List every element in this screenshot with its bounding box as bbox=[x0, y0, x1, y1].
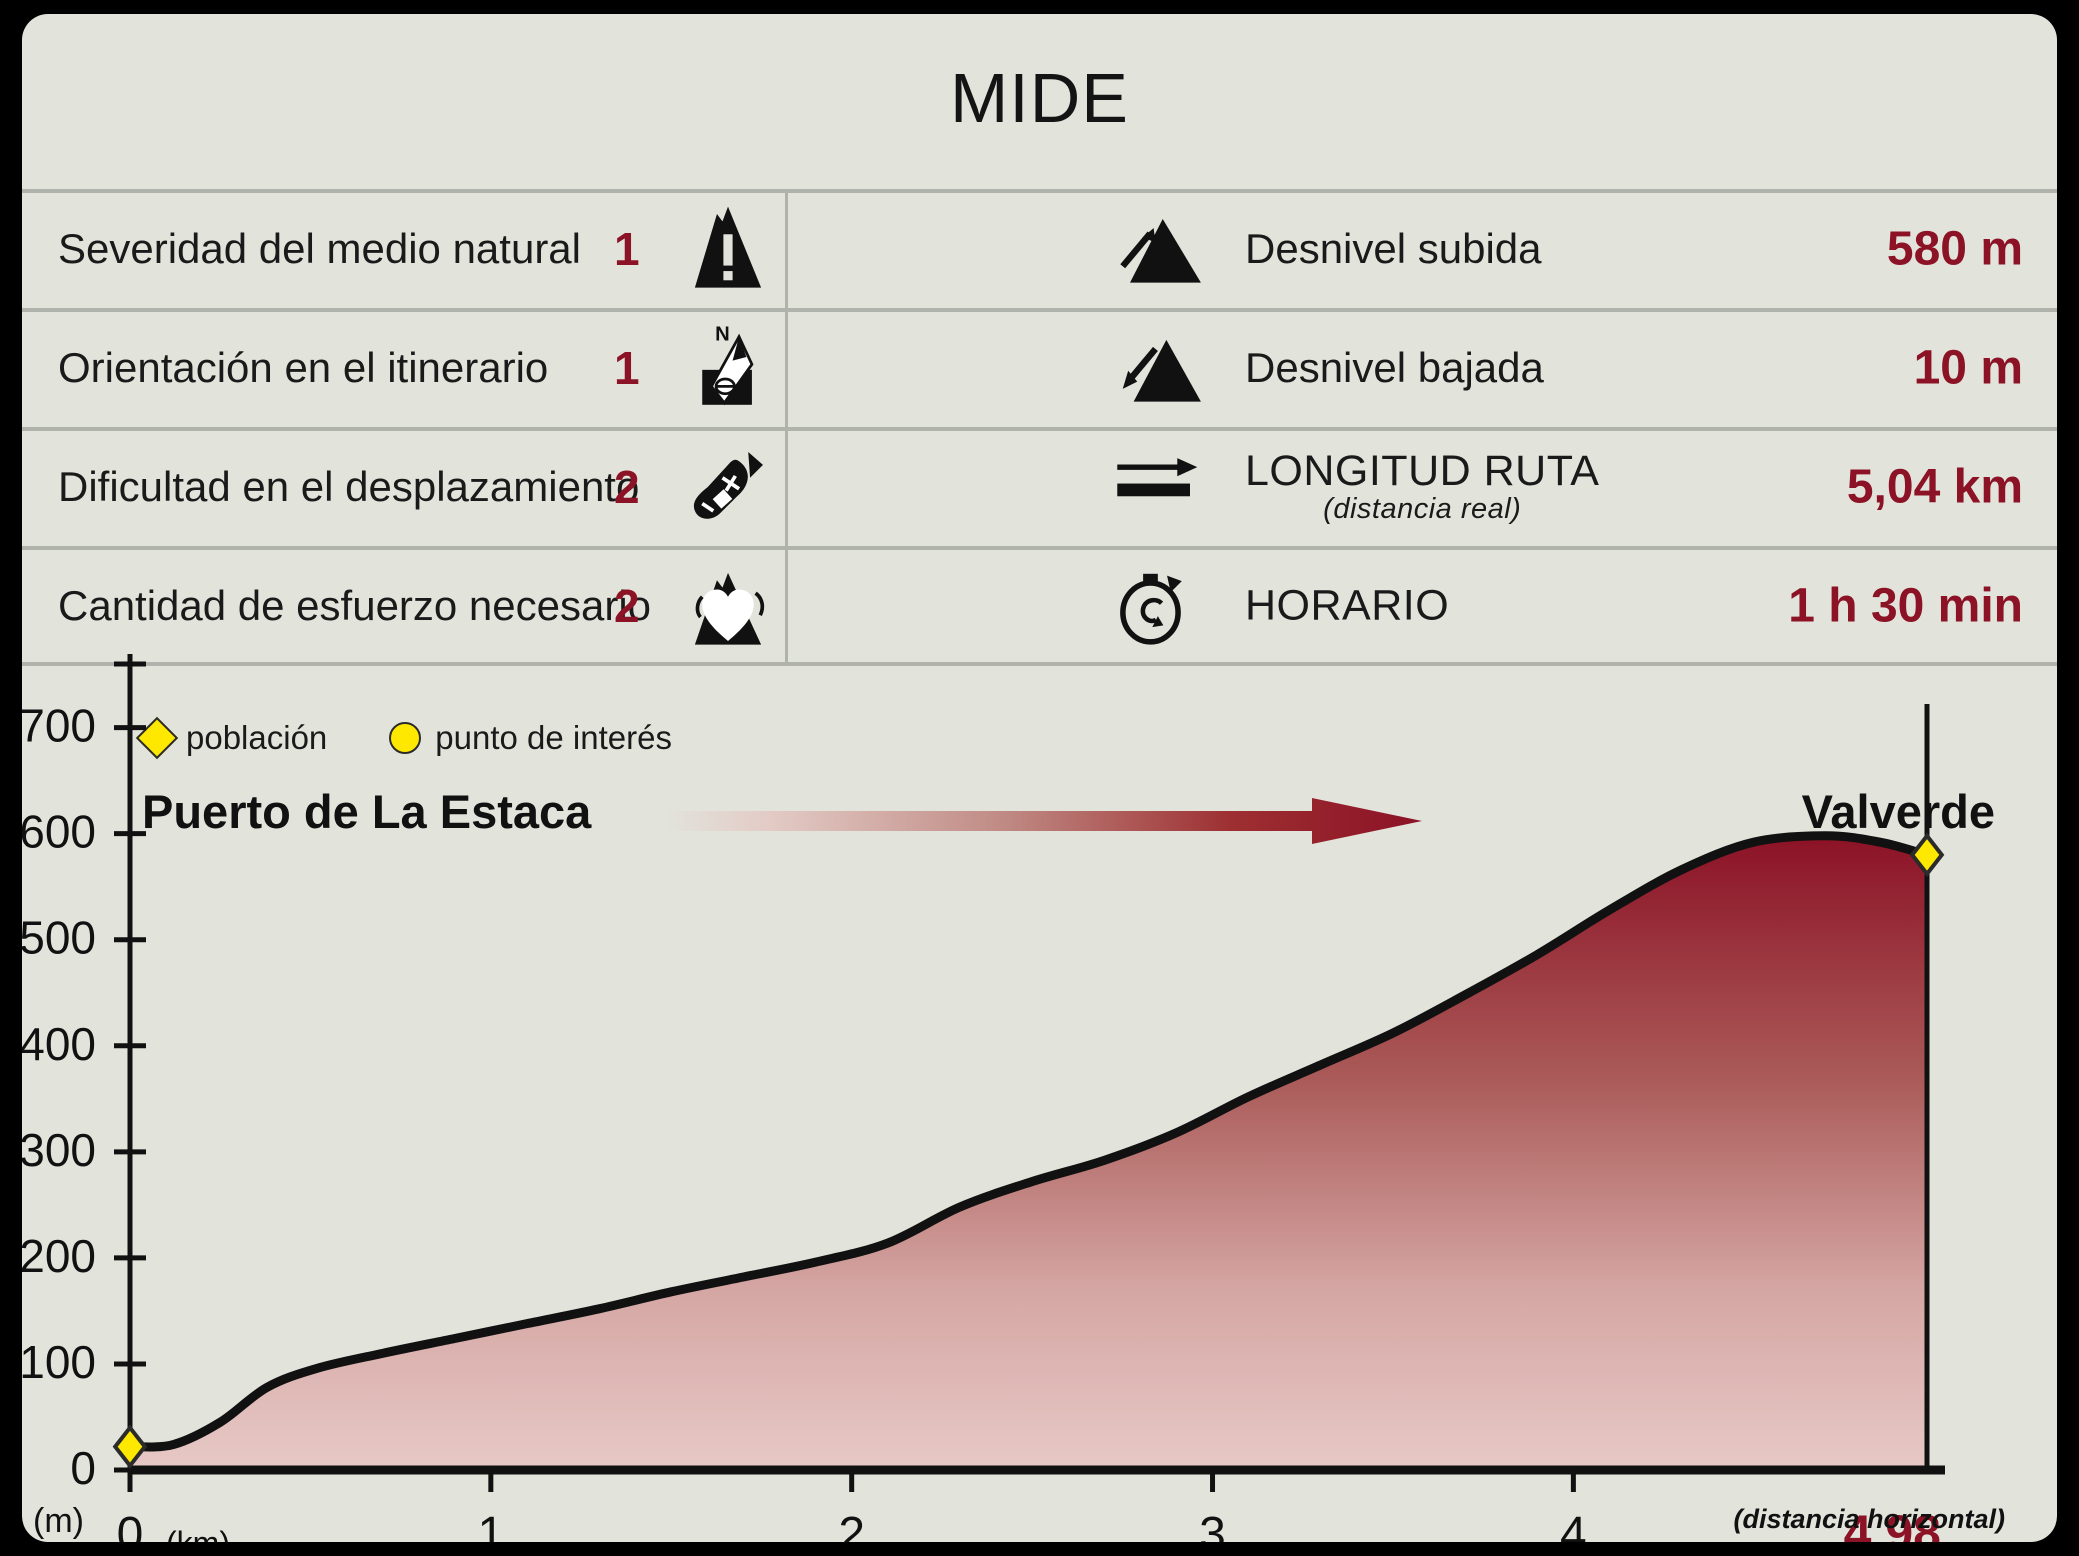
displacement-label: Dificultad en el desplazamiento bbox=[58, 463, 639, 511]
x-tick-label: 0 bbox=[117, 1508, 144, 1542]
descent-label: Desnivel bajada bbox=[1245, 347, 1544, 389]
orientation-cell: Orientación en el itinerario 1 N bbox=[22, 308, 782, 427]
length-sublabel: (distancia real) bbox=[1245, 495, 1600, 524]
length-cell: LONGITUD RUTA (distancia real) 5,04 km bbox=[785, 427, 2057, 546]
heart-mountain-icon bbox=[682, 560, 774, 652]
y-tick-label: 200 bbox=[22, 1230, 96, 1282]
boot-print-icon bbox=[682, 441, 774, 533]
y-tick-label: 300 bbox=[22, 1124, 96, 1176]
length-value: 5,04 km bbox=[1847, 459, 2023, 514]
severity-cell: Severidad del medio natural 1 bbox=[22, 189, 782, 308]
x-tick-label: 1 bbox=[477, 1508, 504, 1542]
y-tick-label: 700 bbox=[22, 700, 96, 752]
y-tick-label: 600 bbox=[22, 806, 96, 858]
ascent-value: 580 m bbox=[1887, 221, 2023, 276]
effort-label: Cantidad de esfuerzo necesario bbox=[58, 582, 651, 630]
mountain-up-icon bbox=[1110, 206, 1210, 292]
table-row: Orientación en el itinerario 1 N bbox=[22, 308, 2057, 427]
svg-text:N: N bbox=[715, 323, 730, 345]
y-tick-label: 0 bbox=[70, 1442, 96, 1494]
orientation-label: Orientación en el itinerario bbox=[58, 344, 548, 392]
warning-triangle-icon bbox=[682, 203, 774, 295]
displacement-cell: Dificultad en el desplazamiento 2 bbox=[22, 427, 782, 546]
profile-area bbox=[130, 836, 1927, 1470]
y-axis-unit: (m) bbox=[33, 1502, 84, 1540]
y-tick-label: 100 bbox=[22, 1336, 96, 1388]
y-tick-label: 400 bbox=[22, 1018, 96, 1070]
mountain-down-icon bbox=[1110, 325, 1210, 411]
x-tick-label: 3 bbox=[1199, 1508, 1226, 1542]
stopwatch-icon bbox=[1110, 563, 1210, 649]
effort-value: 2 bbox=[614, 579, 640, 633]
length-label: LONGITUD RUTA (distancia real) bbox=[1245, 450, 1600, 524]
length-label-main: LONGITUD RUTA bbox=[1245, 447, 1600, 495]
schedule-value: 1 h 30 min bbox=[1788, 578, 2023, 633]
x-tick-label: 4 bbox=[1560, 1508, 1587, 1542]
ascent-cell: Desnivel subida 580 m bbox=[785, 189, 2057, 308]
descent-cell: Desnivel bajada 10 m bbox=[785, 308, 2057, 427]
descent-value: 10 m bbox=[1914, 340, 2023, 395]
poster-frame: MIDE Severidad del medio natural 1 bbox=[0, 0, 2079, 1556]
x-tick-label: 2 bbox=[838, 1508, 865, 1542]
table-row: Dificultad en el desplazamiento 2 bbox=[22, 427, 2057, 546]
mide-card: MIDE Severidad del medio natural 1 bbox=[22, 14, 2057, 1542]
table-row: Severidad del medio natural 1 bbox=[22, 189, 2057, 308]
severity-label: Severidad del medio natural bbox=[58, 225, 581, 273]
compass-icon: N bbox=[682, 322, 774, 414]
severity-value: 1 bbox=[614, 222, 640, 276]
arrow-length-icon bbox=[1110, 444, 1210, 530]
schedule-label: HORARIO bbox=[1245, 584, 1449, 627]
ascent-label: Desnivel subida bbox=[1245, 228, 1542, 270]
elevation-profile-svg: 0100200300400500600700012344,98(m)(km) bbox=[22, 644, 2057, 1542]
x-axis-caption: (distancia horizontal) bbox=[1733, 1504, 2005, 1535]
page-title: MIDE bbox=[22, 58, 2057, 138]
displacement-value: 2 bbox=[614, 460, 640, 514]
x-axis-unit: (km) bbox=[166, 1525, 230, 1542]
mide-table: Severidad del medio natural 1 bbox=[22, 189, 2057, 666]
elevation-profile-chart: 0100200300400500600700012344,98(m)(km) bbox=[22, 644, 2057, 1204]
orientation-value: 1 bbox=[614, 341, 640, 395]
y-tick-label: 500 bbox=[22, 912, 96, 964]
